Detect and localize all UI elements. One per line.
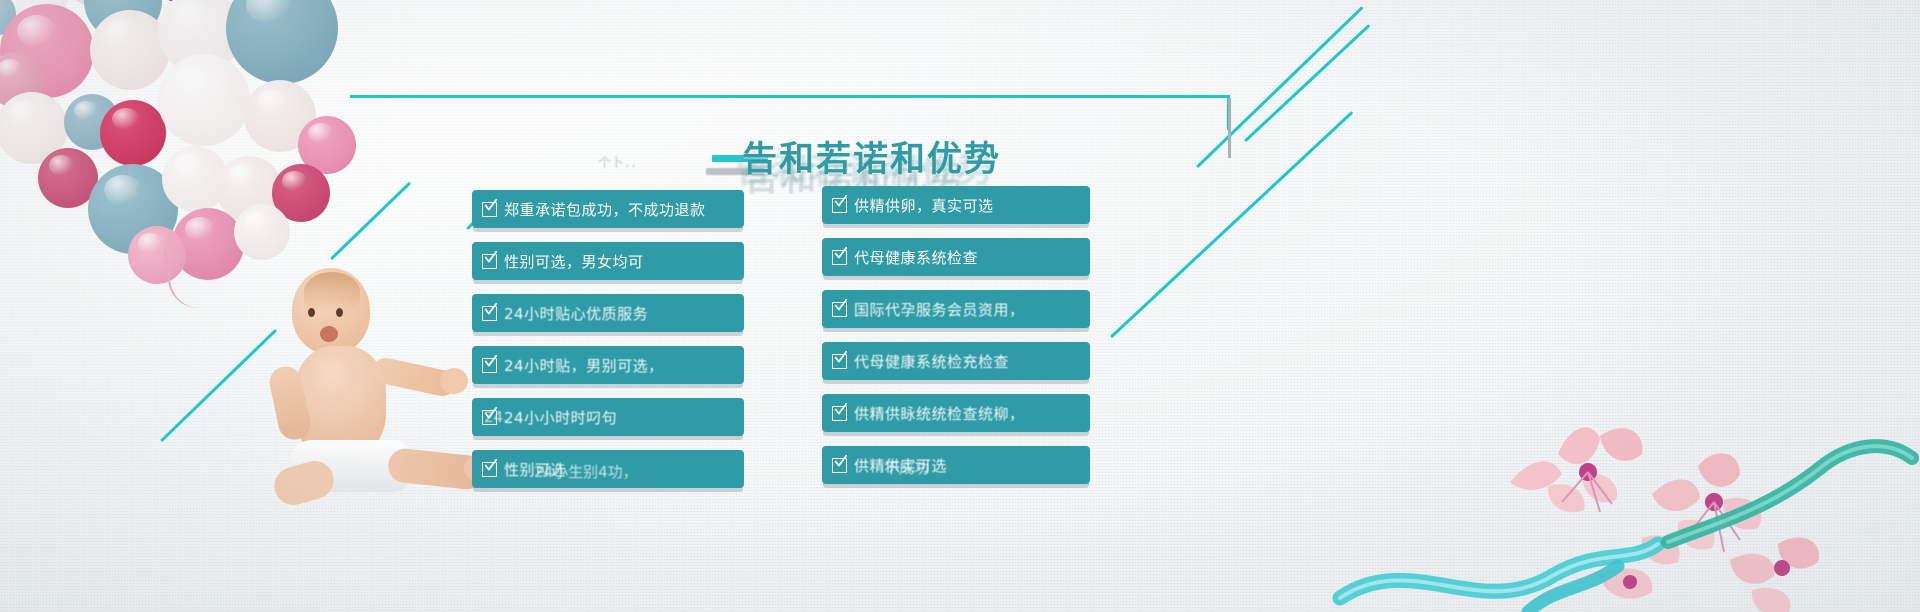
checkbox-checked-icon xyxy=(832,458,847,473)
check-mark-icon xyxy=(834,299,847,312)
feature-pill[interactable]: 24小时贴心优质服务 xyxy=(472,294,744,332)
baby-photo xyxy=(268,268,498,508)
flower-ribbon-decoration xyxy=(1300,362,1920,612)
flowers-svg xyxy=(1300,362,1920,612)
feature-pill[interactable]: 供精供眿统统检查统柳， xyxy=(822,394,1090,432)
checkbox-checked-icon xyxy=(482,358,497,373)
diagonal-line-top-right xyxy=(1244,24,1370,142)
feature-list-left: 郑重承诺包成功，不成功退款性别可选，男女均可24小时贴心优质服务24小时贴，男别… xyxy=(472,190,744,502)
check-mark-icon xyxy=(484,459,497,472)
feature-pill[interactable]: 代母健康系统检查 xyxy=(822,238,1090,276)
feature-pill[interactable]: 24小小时时叼句24. xyxy=(472,398,744,436)
checkbox-checked-icon xyxy=(482,462,497,477)
page-title: 告和若诺和优势 xyxy=(742,131,1001,182)
feature-list-right: 供精供卵，真实可选代母健康系统检查国际代孕服务会员资用，代母健康系统检充检查供精… xyxy=(822,186,1090,498)
feature-pill[interactable]: 供精供卵，真实可选 xyxy=(822,186,1090,224)
checkbox-checked-icon xyxy=(832,302,847,317)
check-mark-icon xyxy=(834,195,847,208)
promo-banner: 告和诺和优势 告和若诺和优势 告和若诺和优势 个卜．． 郑重承诺包成功，不成功退… xyxy=(0,0,1920,612)
checkbox-checked-icon xyxy=(482,306,497,321)
check-mark-icon xyxy=(484,407,497,420)
banner-title-block: 告和诺和优势 告和若诺和优势 告和若诺和优势 xyxy=(640,128,1280,190)
feature-pill-label: 性别可选，男女均可 xyxy=(504,251,644,272)
check-mark-icon xyxy=(834,403,847,416)
title-smudge-text: 个卜．． xyxy=(598,152,644,171)
feature-pill[interactable]: 性别可选，男女均可 xyxy=(472,242,744,280)
feature-pill-label: 24小时贴，男别可选， xyxy=(504,355,664,376)
feature-pill-label: 代母健康系统检查 xyxy=(854,247,978,268)
feature-pill-label: 国际代孕服务会员资用， xyxy=(854,299,1025,320)
diagonal-line-left-lower xyxy=(160,329,277,442)
feature-pill[interactable]: 24小时贴，男别可选， xyxy=(472,346,744,384)
feature-pill[interactable]: 性别可选24小生别4功， xyxy=(472,450,744,488)
feature-pill-label: 24小时贴心优质服务 xyxy=(504,303,648,324)
checkbox-checked-icon xyxy=(482,254,497,269)
feature-pill-label: 供精供眿统统检查统柳， xyxy=(854,403,1025,424)
checkbox-checked-icon xyxy=(832,406,847,421)
check-mark-icon xyxy=(834,247,847,260)
feature-pill-label: 代母健康系统检充检查 xyxy=(854,351,1009,372)
feature-pill[interactable]: 代母健康系统检充检查 xyxy=(822,342,1090,380)
feature-pill[interactable]: 供精供实可选不成功 xyxy=(822,446,1090,484)
checkbox-checked-icon xyxy=(832,354,847,369)
feature-pill-label: 供精供实可选 xyxy=(854,455,947,476)
check-mark-icon xyxy=(484,199,497,212)
checkbox-checked-icon xyxy=(482,202,497,217)
check-mark-icon xyxy=(484,303,497,316)
feature-pill[interactable]: 郑重承诺包成功，不成功退款 xyxy=(472,190,744,228)
checkbox-checked-icon xyxy=(482,410,497,425)
checkbox-checked-icon xyxy=(832,198,847,213)
feature-pill-label: 郑重承诺包成功，不成功退款 xyxy=(504,199,706,220)
feature-pill-label: 性别可选 xyxy=(504,459,566,480)
check-mark-icon xyxy=(834,455,847,468)
frame-top-edge xyxy=(350,95,1230,98)
check-mark-icon xyxy=(484,251,497,264)
feature-pill-label: 24小小时时叼句 xyxy=(504,407,617,428)
feature-pill[interactable]: 国际代孕服务会员资用， xyxy=(822,290,1090,328)
checkbox-checked-icon xyxy=(832,250,847,265)
check-mark-icon xyxy=(834,351,847,364)
check-mark-icon xyxy=(484,355,497,368)
feature-pill-label: 供精供卵，真实可选 xyxy=(854,195,994,216)
